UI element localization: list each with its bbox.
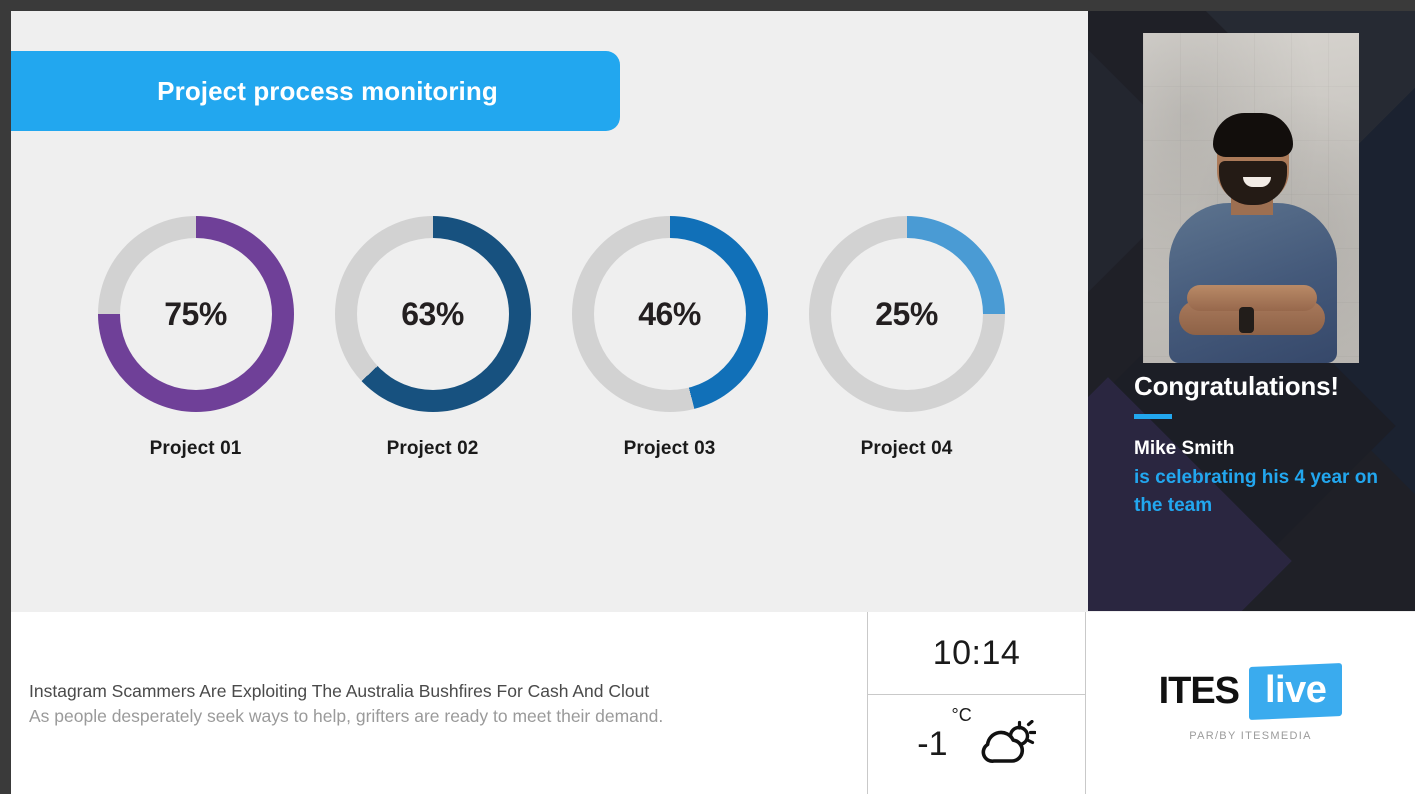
dashboard-main-zone: Project process monitoring 75% Project 0… xyxy=(11,11,1088,611)
donut-wrap: 25% xyxy=(809,216,1005,412)
donut-label: Project 03 xyxy=(624,438,716,460)
donut-wrap: 75% xyxy=(98,216,294,412)
weather-unit: °C xyxy=(952,705,972,726)
donut-label: Project 01 xyxy=(150,438,242,460)
clock-time: 10:14 xyxy=(933,634,1021,673)
accent-divider xyxy=(1134,414,1172,419)
donut-chart-row: 75% Project 01 63% Project 02 xyxy=(11,216,1088,460)
brand-logo: ITES live PAR/BY ITESMEDIA xyxy=(1086,612,1415,794)
bottom-status-bar: Instagram Scammers Are Exploiting The Au… xyxy=(11,612,1415,794)
donut-value: 25% xyxy=(875,296,938,333)
employee-photo xyxy=(1143,33,1359,363)
donut-hole: 46% xyxy=(594,238,746,390)
donut-hole: 63% xyxy=(357,238,509,390)
logo-row: ITES live xyxy=(1159,665,1343,718)
logo-tagline: PAR/BY ITESMEDIA xyxy=(1189,730,1311,742)
weather-widget: -1 °C xyxy=(868,695,1085,794)
logo-live-text: live xyxy=(1265,669,1326,712)
partly-cloudy-icon xyxy=(978,720,1036,769)
weather-temperature: -1 xyxy=(917,725,947,764)
donut-gauge-project-02: 63% Project 02 xyxy=(314,216,551,460)
news-ticker-content: Instagram Scammers Are Exploiting The Au… xyxy=(29,680,839,728)
photo-torso xyxy=(1169,203,1337,363)
celebration-title: Congratulations! xyxy=(1134,373,1404,400)
photo-watch xyxy=(1239,307,1254,333)
page-title: Project process monitoring xyxy=(157,76,498,107)
logo-wordmark: ITES xyxy=(1159,670,1239,713)
signage-screen-frame: Project process monitoring 75% Project 0… xyxy=(0,0,1415,794)
donut-label: Project 04 xyxy=(861,438,953,460)
donut-label: Project 02 xyxy=(387,438,479,460)
celebration-person-name: Mike Smith xyxy=(1134,435,1404,464)
donut-gauge-project-04: 25% Project 04 xyxy=(788,216,1025,460)
donut-value: 63% xyxy=(401,296,464,333)
donut-gauge-project-03: 46% Project 03 xyxy=(551,216,788,460)
news-headline: Instagram Scammers Are Exploiting The Au… xyxy=(29,680,839,703)
page-title-banner: Project process monitoring xyxy=(11,51,620,131)
photo-hair xyxy=(1213,113,1293,157)
logo-live-badge: live xyxy=(1249,662,1342,719)
time-weather-widget: 10:14 -1 °C xyxy=(868,612,1086,794)
celebration-panel: Congratulations! Mike Smith is celebrati… xyxy=(1088,11,1415,611)
donut-hole: 25% xyxy=(831,238,983,390)
celebration-text-block: Congratulations! Mike Smith is celebrati… xyxy=(1134,373,1404,521)
donut-value: 75% xyxy=(164,296,227,333)
donut-gauge-project-01: 75% Project 01 xyxy=(77,216,314,460)
news-ticker: Instagram Scammers Are Exploiting The Au… xyxy=(11,612,868,794)
signage-canvas: Project process monitoring 75% Project 0… xyxy=(11,11,1415,794)
donut-wrap: 46% xyxy=(572,216,768,412)
news-subline: As people desperately seek ways to help,… xyxy=(29,705,839,728)
celebration-message: is celebrating his 4 year on the team xyxy=(1134,464,1404,521)
donut-wrap: 63% xyxy=(335,216,531,412)
clock-widget: 10:14 xyxy=(868,612,1085,695)
donut-hole: 75% xyxy=(120,238,272,390)
donut-value: 46% xyxy=(638,296,701,333)
